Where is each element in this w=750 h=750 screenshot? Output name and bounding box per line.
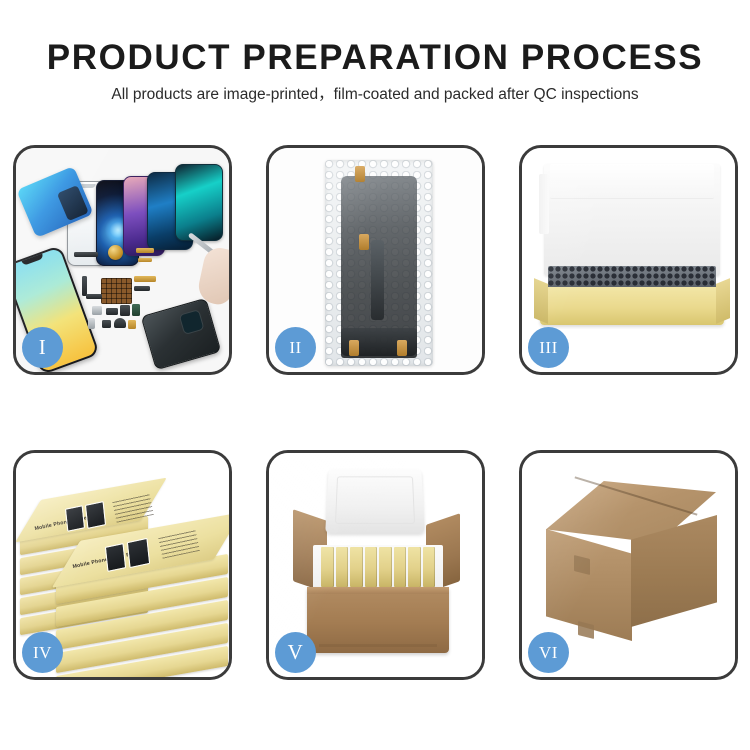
- step-badge-3: III: [528, 327, 569, 368]
- box-label-window-icon: [127, 538, 150, 568]
- box-lid-icon: [544, 164, 720, 276]
- packed-box-icon: [394, 547, 407, 587]
- tape-icon: [397, 340, 407, 356]
- spare-part-icon: [134, 286, 150, 291]
- phone-display-teal-icon: [175, 164, 223, 241]
- box-label-window-icon: [85, 501, 106, 529]
- packed-boxes-row-icon: [321, 547, 435, 587]
- spare-part-icon: [134, 276, 156, 282]
- foam-lid-icon: [325, 469, 425, 533]
- spare-part-icon: [132, 304, 140, 316]
- page-subtitle: All products are image-printed，film-coat…: [0, 86, 750, 104]
- carton-shadow: [319, 644, 437, 647]
- spare-part-icon: [92, 306, 102, 315]
- process-step-card-2[interactable]: II: [266, 145, 485, 375]
- packed-box-icon: [379, 547, 392, 587]
- process-step-card-3[interactable]: III: [519, 145, 738, 375]
- spare-part-icon: [136, 248, 154, 253]
- packed-box-icon: [423, 547, 436, 587]
- tape-icon: [359, 234, 369, 250]
- flex-cable-icon: [371, 240, 384, 320]
- spare-part-icon: [88, 318, 95, 329]
- packed-box-icon: [408, 547, 421, 587]
- spare-part-icon: [86, 294, 102, 299]
- step-badge-2: II: [275, 327, 316, 368]
- spare-part-icon: [128, 320, 136, 329]
- spare-part-icon: [74, 252, 98, 257]
- spare-part-icon: [138, 258, 152, 262]
- process-step-card-1[interactable]: I: [13, 145, 232, 375]
- speaker-module-icon: [108, 245, 123, 260]
- spare-part-icon: [82, 276, 87, 296]
- step-badge-1: I: [22, 327, 63, 368]
- spare-part-icon: [120, 305, 130, 316]
- screw-tray-icon: [101, 278, 132, 304]
- spare-part-icon: [106, 308, 118, 315]
- box-label-window-icon: [65, 505, 85, 532]
- process-step-grid: I II III: [13, 145, 737, 680]
- box-label-window-icon: [105, 543, 126, 572]
- step-badge-6: VI: [528, 632, 569, 673]
- tape-icon: [349, 340, 359, 356]
- step-badge-5: V: [275, 632, 316, 673]
- tape-icon: [355, 166, 365, 182]
- page-title: PRODUCT PREPARATION PROCESS: [0, 38, 750, 78]
- yellow-box-body-icon: [540, 287, 724, 325]
- packed-box-icon: [365, 547, 378, 587]
- spare-part-icon: [102, 320, 111, 328]
- process-step-card-5[interactable]: V: [266, 450, 485, 680]
- step-badge-4: IV: [22, 632, 63, 673]
- packed-box-icon: [336, 547, 349, 587]
- packed-box-icon: [350, 547, 363, 587]
- spare-part-icon: [114, 318, 126, 328]
- page-header: PRODUCT PREPARATION PROCESS All products…: [0, 0, 750, 104]
- bubble-wrap-bag-icon: [325, 160, 433, 366]
- process-step-card-4[interactable]: Mobile Phone Spare Parts Mobile Phone Sp…: [13, 450, 232, 680]
- packed-box-icon: [321, 547, 334, 587]
- process-step-card-6[interactable]: VI: [519, 450, 738, 680]
